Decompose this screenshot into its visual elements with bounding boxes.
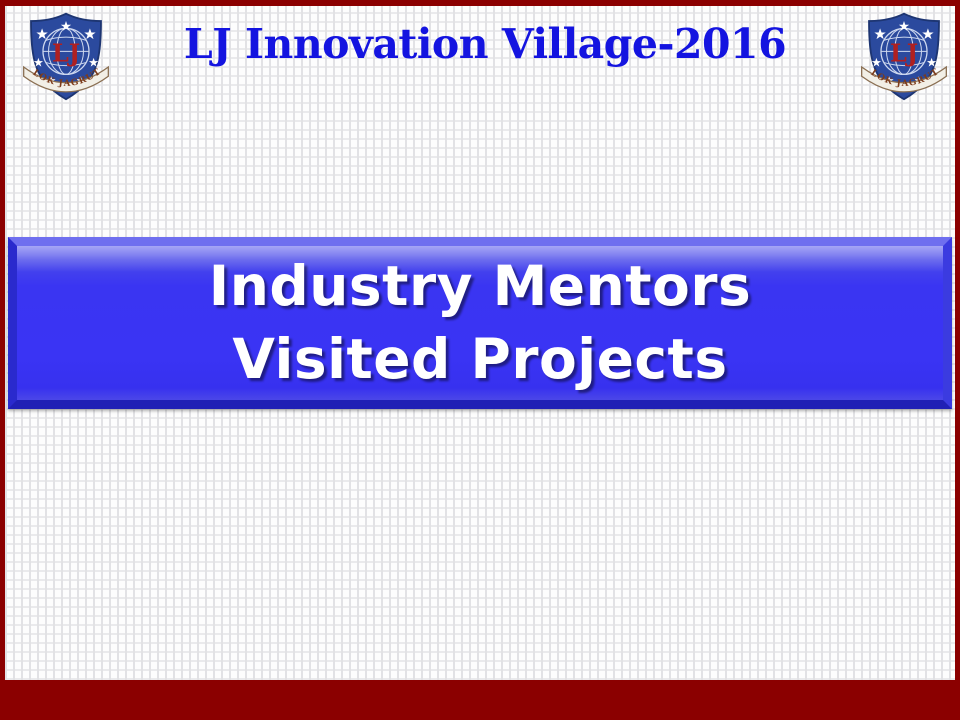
page-title: LJ Innovation Village-2016: [115, 20, 855, 68]
svg-text:LJ: LJ: [52, 40, 80, 68]
title-line-1: Industry Mentors: [209, 250, 751, 323]
svg-text:LJ: LJ: [890, 40, 918, 68]
frame-border-bottom: [0, 680, 960, 720]
title-banner-text-group: Industry Mentors Visited Projects: [17, 246, 943, 400]
lj-crest-logo-left: LJ LOK JAGRUTI KENDRA: [19, 10, 113, 102]
slide-canvas: LJ LOK JAGRUTI KENDRA LJ: [0, 0, 960, 720]
frame-border-left: [0, 0, 5, 720]
title-banner-box: Industry Mentors Visited Projects: [8, 237, 952, 409]
frame-border-right: [955, 0, 960, 720]
slide-header: LJ LOK JAGRUTI KENDRA LJ: [5, 6, 955, 102]
title-line-2: Visited Projects: [232, 323, 727, 396]
lj-crest-logo-right: LJ LOK JAGRUTI KENDRA: [857, 10, 951, 102]
